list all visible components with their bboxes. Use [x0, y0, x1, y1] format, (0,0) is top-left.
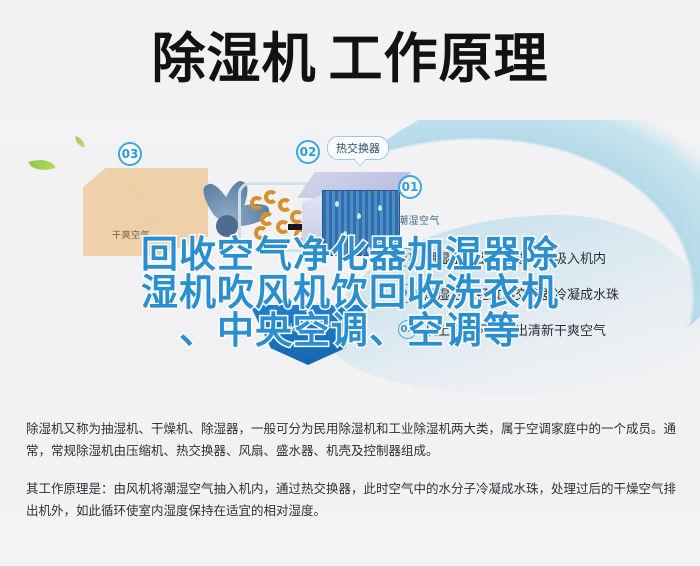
wet-air-label: 潮湿空气	[398, 212, 440, 227]
page-root: 除湿机工作原理 干爽空气	[0, 0, 700, 566]
leaf-icon	[28, 155, 55, 176]
body-copy: 除湿机又称为抽湿机、干燥机、除湿器，一般可分为民用除湿机和工业除湿机两大类，属于…	[26, 418, 676, 538]
overlay-line-3: 、中央空调、空调等	[0, 312, 700, 350]
overlay-line-1: 回收空气净化器加湿器除	[0, 236, 700, 274]
paragraph-1: 除湿机又称为抽湿机、干燥机、除湿器，一般可分为民用除湿机和工业除湿机两大类，属于…	[26, 418, 676, 462]
leaf-icon	[73, 136, 87, 148]
badge-02: 02	[296, 140, 320, 164]
overlay-line-2: 湿机吹风机饮回收洗衣机	[0, 274, 700, 312]
badge-03: 03	[118, 142, 142, 166]
paragraph-2: 其工作原理是：由风机将潮湿空气抽入机内，通过热交换器，此时空气中的水分子冷凝成水…	[26, 478, 676, 522]
page-title-part2: 工作原理	[329, 27, 549, 90]
page-title: 除湿机工作原理	[0, 26, 700, 92]
hero-banner: 除湿机工作原理	[0, 0, 700, 125]
heat-exchanger-callout: 热交换器	[327, 136, 389, 160]
overlay-headline: 回收空气净化器加湿器除 湿机吹风机饮回收洗衣机 、中央空调、空调等	[0, 236, 700, 350]
badge-01: 01	[398, 175, 422, 199]
page-title-part1: 除湿机	[152, 27, 317, 90]
